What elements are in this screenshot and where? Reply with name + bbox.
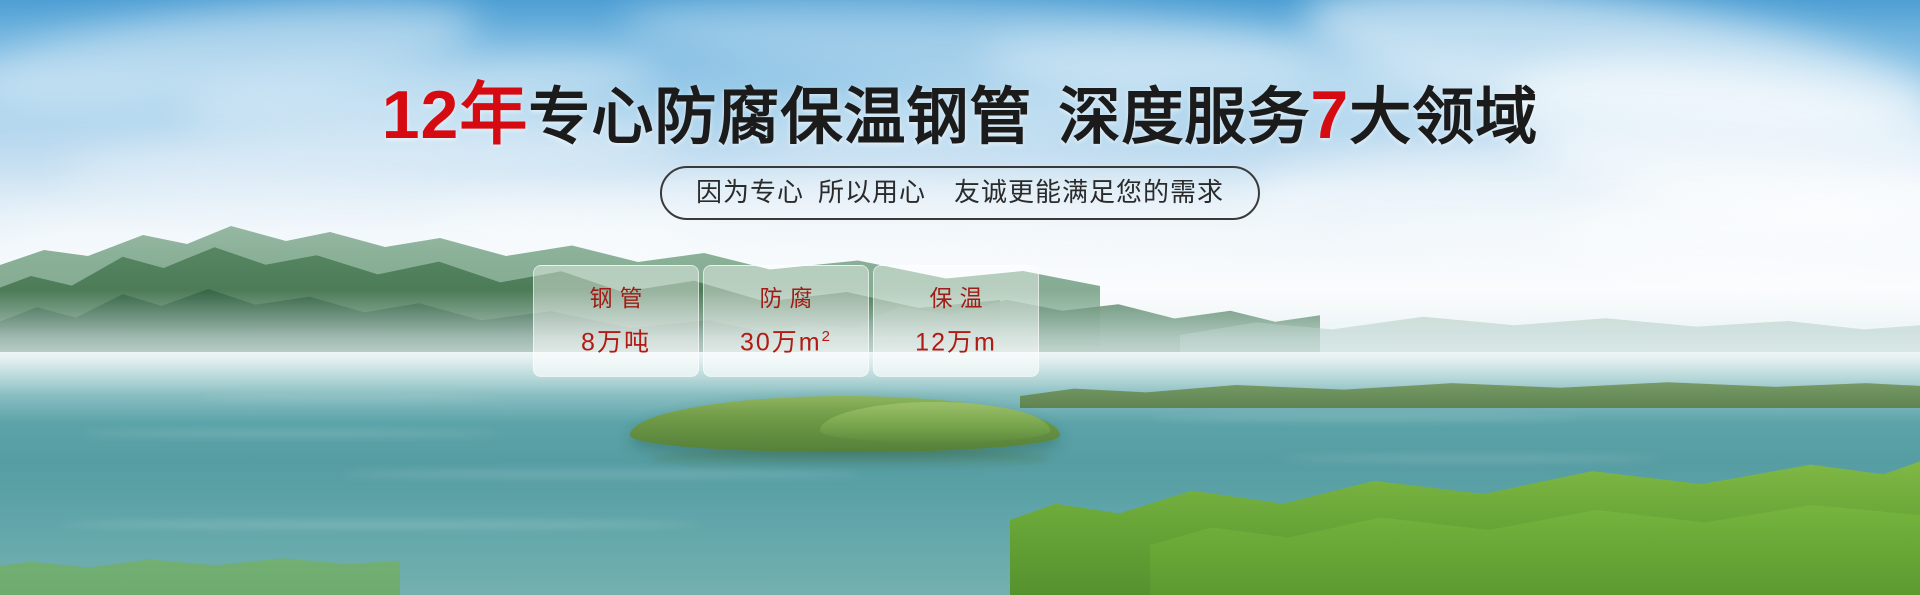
stat-card-insulation: 保温 12万m <box>873 265 1039 377</box>
stat-card-anticorrosion: 防腐 30万m2 <box>703 265 869 377</box>
subtitle-part-2: 所以用心 <box>818 177 926 207</box>
stat-value-superscript: 2 <box>822 328 832 345</box>
subtitle-part-3: 友诚更能满足您的需求 <box>954 177 1224 207</box>
stat-card-steel-pipe: 钢管 8万吨 <box>533 265 699 377</box>
headline-years-number: 12 <box>382 77 460 153</box>
stat-card-title: 保温 <box>923 287 990 310</box>
hero-banner: 12年专心防腐保温钢管深度服务7大领域 因为专心所以用心友诚更能满足您的需求 钢… <box>0 0 1920 595</box>
banner-headline: 12年专心防腐保温钢管深度服务7大领域 <box>0 84 1920 149</box>
headline-fields-number: 7 <box>1310 77 1349 153</box>
stat-card-title: 钢管 <box>583 287 650 310</box>
stat-value-text: 30万m <box>740 328 822 356</box>
stat-cards: 钢管 8万吨 防腐 30万m2 保温 12万m <box>533 265 1039 377</box>
water-ripple <box>60 520 700 529</box>
stat-card-value: 12万m <box>915 324 997 355</box>
stat-value-text: 12万m <box>915 328 997 356</box>
water-ripple <box>1150 415 1580 421</box>
water-ripple <box>340 470 860 478</box>
water-ripple <box>80 430 500 437</box>
banner-subtitle-pill: 因为专心所以用心友诚更能满足您的需求 <box>660 166 1260 220</box>
stat-value-text: 8万吨 <box>581 328 651 356</box>
headline-fields-text: 大领域 <box>1349 83 1538 152</box>
headline-years-unit: 年 <box>459 77 528 153</box>
headline-service-text: 深度服务 <box>1058 83 1310 152</box>
stat-card-value: 8万吨 <box>581 324 651 355</box>
water-ripple <box>1280 455 1660 462</box>
subtitle-part-1: 因为专心 <box>696 177 804 207</box>
water-ripple <box>200 395 500 400</box>
stat-card-value: 30万m2 <box>740 324 832 355</box>
headline-main-text: 专心防腐保温钢管 <box>528 83 1032 152</box>
stat-card-title: 防腐 <box>753 287 820 310</box>
